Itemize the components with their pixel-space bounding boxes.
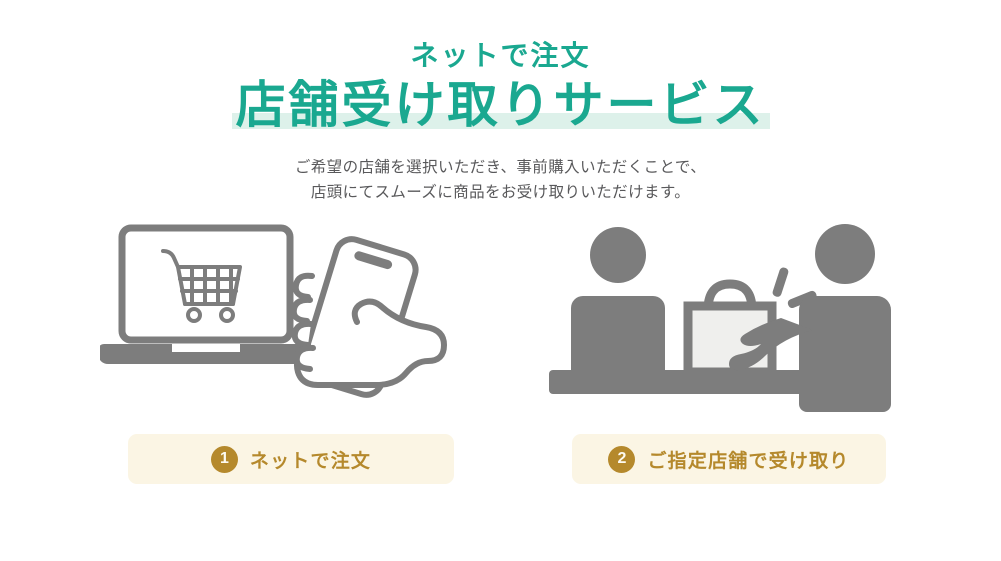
step-pill-1[interactable]: 1 ネットで注文	[128, 434, 454, 484]
illustration-store-pickup	[545, 222, 925, 422]
step-label-2: ご指定店舗で受け取り	[647, 446, 849, 473]
illustration-order-online	[100, 222, 480, 422]
step-number-badge: 1	[211, 446, 238, 473]
step-number-badge: 2	[608, 446, 635, 473]
illustration-row	[0, 222, 1001, 422]
step-label-1: ネットで注文	[250, 446, 371, 473]
customer-figure-icon	[571, 227, 665, 370]
promo-banner: ネットで注文 店舗受け取りサービス ご希望の店舗を選択いただき、事前購入いただく…	[0, 0, 1001, 561]
lead-paragraph: ご希望の店舗を選択いただき、事前購入いただくことで、 店頭にてスムーズに商品をお…	[0, 155, 1001, 205]
shopping-cart-icon	[163, 251, 240, 321]
page-title: 店舗受け取りサービス	[230, 76, 772, 135]
title-wrapper: 店舗受け取りサービス	[230, 76, 772, 135]
header: ネットで注文 店舗受け取りサービス	[0, 40, 1001, 135]
step-list: 1 ネットで注文 2 ご指定店舗で受け取り	[0, 434, 1001, 486]
eyebrow-heading: ネットで注文	[0, 40, 1001, 72]
lead-line-1: ご希望の店舗を選択いただき、事前購入いただくことで、	[0, 155, 1001, 180]
lead-line-2: 店頭にてスムーズに商品をお受け取りいただけます。	[0, 180, 1001, 205]
step-pill-2[interactable]: 2 ご指定店舗で受け取り	[572, 434, 886, 484]
